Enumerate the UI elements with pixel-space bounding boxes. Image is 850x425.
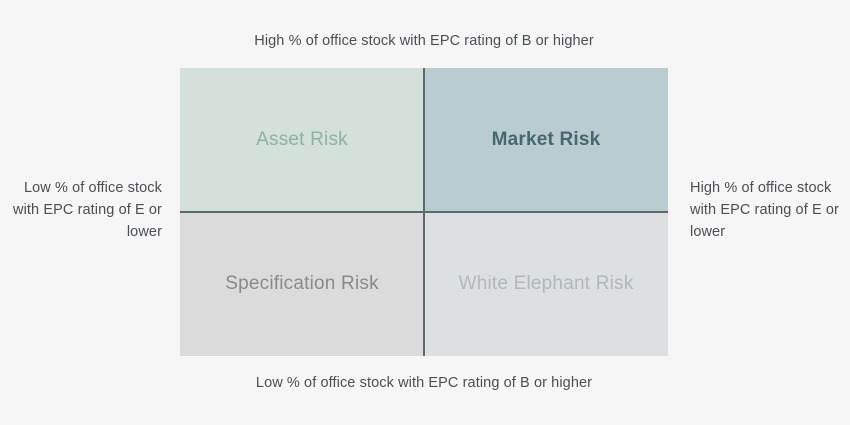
divider-horizontal xyxy=(180,211,668,213)
quadrant-white-elephant-risk[interactable]: White Elephant Risk xyxy=(424,212,668,356)
axis-label-left: Low % of office stock with EPC rating of… xyxy=(10,177,162,243)
axis-label-right: High % of office stock with EPC rating o… xyxy=(690,177,850,243)
quadrant-label-specification-risk: Specification Risk xyxy=(225,273,379,295)
quadrant-specification-risk[interactable]: Specification Risk xyxy=(180,212,424,356)
quadrant-label-white-elephant-risk: White Elephant Risk xyxy=(459,273,634,295)
quadrant-market-risk[interactable]: Market Risk xyxy=(424,68,668,212)
axis-label-bottom: Low % of office stock with EPC rating of… xyxy=(180,372,668,394)
quadrant-label-market-risk: Market Risk xyxy=(492,129,601,151)
matrix-diagram: High % of office stock with EPC rating o… xyxy=(0,0,850,425)
quadrant-label-asset-risk: Asset Risk xyxy=(256,129,348,151)
quadrant-asset-risk[interactable]: Asset Risk xyxy=(180,68,424,212)
axis-label-top: High % of office stock with EPC rating o… xyxy=(180,30,668,52)
